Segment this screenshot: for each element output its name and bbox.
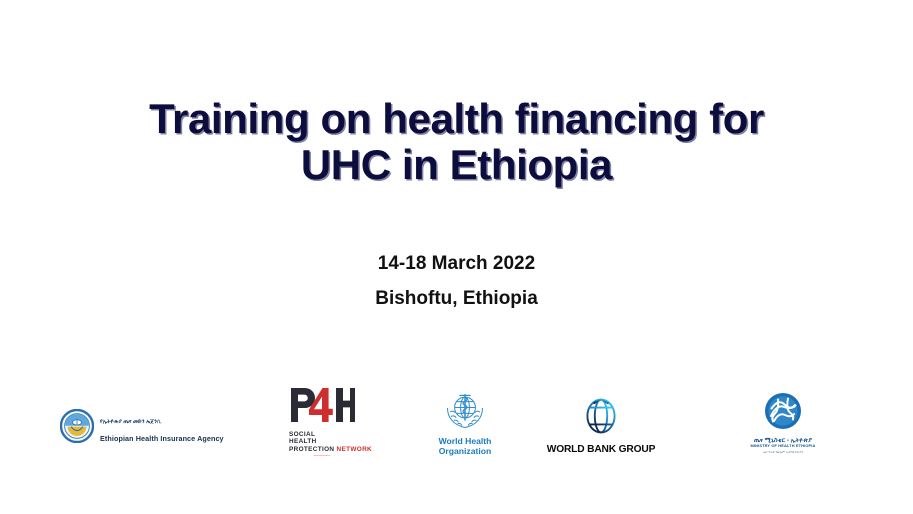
who-line-1: World Health [439, 436, 492, 447]
logo-world-bank-group: WORLD BANK GROUP [545, 394, 657, 454]
world-bank-wordmark: WORLD BANK GROUP [547, 444, 656, 455]
moh-emblem-icon [764, 392, 802, 435]
p4h-tagline: SOCIAL HEALTH PROTECTION NETWORK [289, 431, 372, 453]
ehia-emblem-icon [60, 409, 94, 448]
moh-text-block: ጤና ሚኒስቴር - ኢትዮጵያ MINISTRY OF HEALTH ETHI… [751, 437, 816, 455]
partner-logo-strip: የኢትዮጵያ ጤና መድን ኤጀንሲ Ethiopian Health Insu… [0, 388, 913, 468]
moh-sub-label: ጤና ጥራት ለሁሉም ኢትዮጵያውያን [751, 451, 816, 455]
title-line-2: UHC in Ethiopia [0, 142, 913, 188]
presentation-title-slide: Training on health financing for UHC in … [0, 0, 913, 514]
p4h-protection-label: PROTECTION [289, 446, 337, 453]
ehia-text-block: የኢትዮጵያ ጤና መድን ኤጀንሲ Ethiopian Health Insu… [100, 410, 224, 447]
subtitle-location: Bishoftu, Ethiopia [0, 281, 913, 316]
who-emblem-icon [444, 392, 486, 435]
p4h-network-label: NETWORK [337, 446, 372, 453]
p4h-wordmark-icon [289, 386, 355, 429]
who-line-2: Organization [439, 446, 492, 457]
logo-ministry-of-health-ethiopia: ጤና ሚኒስቴር - ኢትዮጵያ MINISTRY OF HEALTH ETHI… [737, 390, 829, 456]
logo-ethiopian-health-insurance-agency: የኢትዮጵያ ጤና መድን ኤጀንሲ Ethiopian Health Insu… [60, 408, 220, 448]
logo-world-health-organization: World Health Organization [430, 392, 500, 456]
p4h-underline-rule [289, 455, 355, 456]
p4h-line-social: SOCIAL [289, 431, 372, 438]
p4h-line-protection-network: PROTECTION NETWORK [289, 446, 372, 453]
world-bank-globe-icon [581, 394, 621, 441]
title-line-1: Training on health financing for [0, 96, 913, 142]
ehia-english-label: Ethiopian Health Insurance Agency [100, 434, 224, 443]
ehia-amharic-label: የኢትዮጵያ ጤና መድን ኤጀንሲ [100, 419, 161, 425]
subtitle: 14-18 March 2022 Bishoftu, Ethiopia [0, 246, 913, 316]
page-title: Training on health financing for UHC in … [0, 96, 913, 188]
moh-english-label: MINISTRY OF HEALTH ETHIOPIA [751, 444, 816, 449]
logo-p4h-network: SOCIAL HEALTH PROTECTION NETWORK [289, 386, 365, 456]
p4h-line-health: HEALTH [289, 438, 372, 445]
who-text-block: World Health Organization [439, 436, 492, 457]
subtitle-date: 14-18 March 2022 [0, 246, 913, 281]
